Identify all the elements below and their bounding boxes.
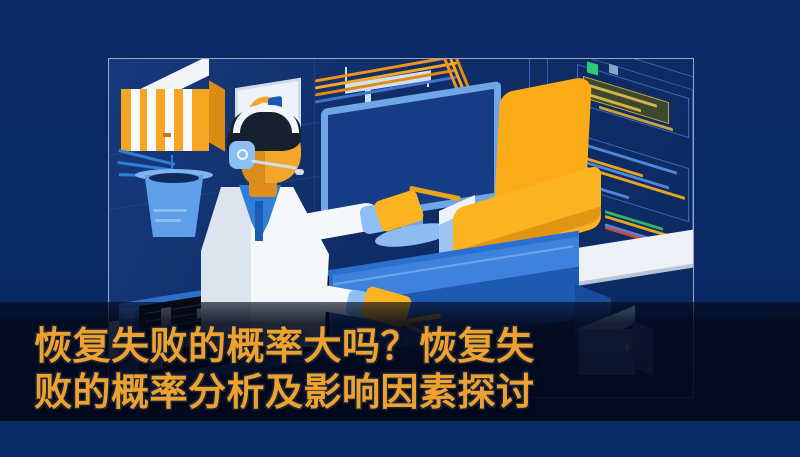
headset-mic-tip-icon	[295, 169, 304, 175]
technician-tie	[255, 201, 263, 241]
bookshelf-side	[209, 80, 225, 151]
headset-earcup-ring-icon	[237, 149, 248, 160]
pot-highlight	[155, 219, 181, 222]
book-label	[163, 133, 171, 137]
page-title: 恢复失败的概率大吗？恢复失 败的概率分析及影响因素探讨	[34, 324, 634, 416]
bottom-navy-bar	[0, 421, 800, 457]
plant-soil	[149, 173, 199, 183]
bookshelf-front	[121, 89, 209, 151]
article-banner: 恢复失败的概率大吗？恢复失 败的概率分析及影响因素探讨	[0, 0, 800, 457]
pot-highlight	[153, 209, 187, 212]
